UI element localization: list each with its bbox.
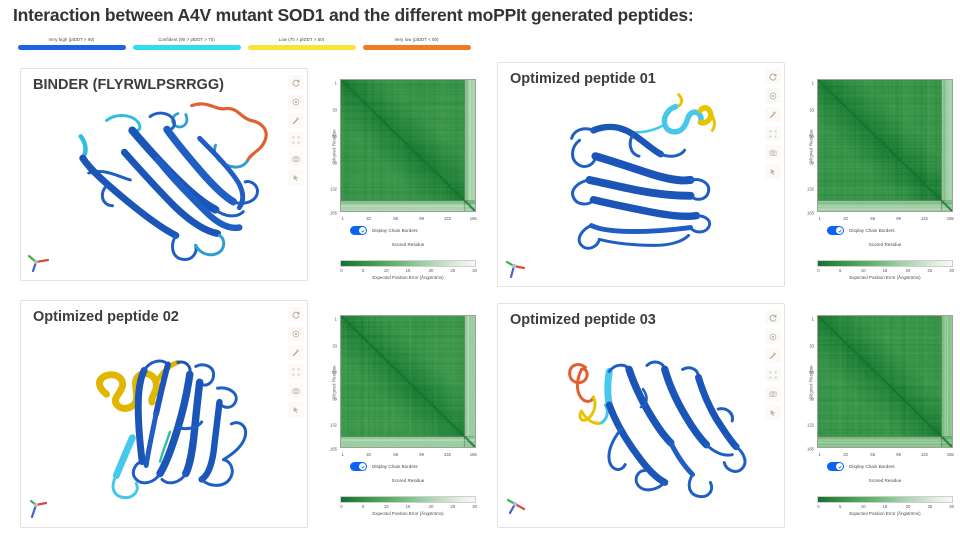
colorbar-tick: 20 [906,504,911,509]
pae-x-axis-label: Scored Residue [817,478,953,483]
colorbar-tick: 30 [949,268,954,273]
settings-wrench-icon[interactable] [765,107,781,122]
pae-y-tick: 33 [809,343,814,348]
center-target-icon[interactable] [288,94,304,109]
colorbar-tick: 30 [472,268,477,273]
legend-item-very-high: Very high (plDDT > 90) [14,36,129,56]
pae-x-tick: 132 [921,216,928,221]
colorbar-tick: 15 [406,268,411,273]
colorbar-tick: 10 [861,504,866,509]
colorbar-gradient [817,496,953,503]
legend-bar-low [248,45,356,50]
pae-y-tick: 66 [809,370,814,375]
pae-y-tick: 165 [330,447,337,452]
pae-y-tick: 165 [330,211,337,216]
panel-opt01: Optimized peptide 01 Aligned Residue 1 3… [497,62,960,287]
colorbar-tick: 20 [906,268,911,273]
chain-borders-toggle-row[interactable]: Display Chain Borders [350,226,418,235]
center-target-icon[interactable] [765,329,781,344]
molecule-canvas[interactable] [498,304,784,527]
pae-heatmap[interactable] [340,79,476,212]
pae-y-tick: 1 [812,81,814,86]
pae-y-tick: 99 [809,396,814,401]
colorbar-ticks: 0 5 10 15 20 25 30 [817,504,953,511]
orientation-axes-icon [27,248,53,274]
pae-x-tick: 33 [366,216,371,221]
viewer-title: Optimized peptide 02 [33,309,179,325]
orientation-axes-icon [504,254,530,280]
legend-item-very-low: Very low (plDDT < 50) [359,36,474,56]
pae-y-ticks: 1 33 66 99 132 165 [324,312,338,452]
pae-y-ticks: 1 33 66 99 132 165 [801,76,815,216]
molecule-ribbon-opt01 [498,63,784,286]
pae-y-tick: 99 [332,160,337,165]
reset-view-icon[interactable] [765,310,781,325]
pae-x-tick: 132 [921,452,928,457]
select-cursor-icon[interactable] [288,402,304,417]
pae-block-opt03: Aligned Residue 1 33 66 99 132 165 1 33 … [795,303,960,528]
structure-viewer-opt01[interactable]: Optimized peptide 01 [497,62,785,287]
molecule-canvas[interactable] [21,69,307,280]
pae-x-tick: 66 [393,216,398,221]
pae-x-ticks: 1 33 66 99 132 165 [340,216,476,224]
colorbar-gradient [817,260,953,267]
pae-x-tick: 132 [444,452,451,457]
colorbar-tick: 0 [340,268,342,273]
colorbar-tick: 5 [362,504,364,509]
colorbar-caption: Expected Position Error (Ångströms) [817,275,953,280]
reset-view-icon[interactable] [288,75,304,90]
colorbar-gradient [340,260,476,267]
legend-bar-very-high [18,45,126,50]
panel-opt03: Optimized peptide 03 Aligned Residue 1 3… [497,303,960,528]
molecule-ribbon-opt02 [21,301,307,527]
screenshot-icon[interactable] [288,383,304,398]
select-cursor-icon[interactable] [765,164,781,179]
viewer-toolbar[interactable] [765,69,781,179]
colorbar-tick: 25 [451,268,456,273]
toggle-knob [836,227,843,234]
pae-colorbar: 0 5 10 15 20 25 30 Expected Position Err… [340,496,476,511]
colorbar-tick: 0 [817,504,819,509]
display-chain-borders-toggle[interactable] [350,462,367,471]
chain-borders-label: Display Chain Borders [372,464,418,469]
pae-y-tick: 165 [807,211,814,216]
structure-viewer-opt03[interactable]: Optimized peptide 03 [497,303,785,528]
pae-block-opt02: Aligned Residue 1 33 66 99 132 165 1 33 … [318,300,488,528]
pae-y-tick: 66 [332,134,337,139]
colorbar-tick: 10 [384,268,389,273]
colorbar-caption: Expected Position Error (Ångströms) [340,511,476,516]
pae-x-tick: 33 [843,216,848,221]
panel-binder: BINDER (FLYRWLPSRRGG) Aligned Residue 1 … [20,68,488,281]
pae-x-tick: 66 [870,452,875,457]
pae-x-tick: 165 [947,452,954,457]
colorbar-tick: 15 [406,504,411,509]
colorbar-tick: 10 [384,504,389,509]
pae-block-opt01: Aligned Residue 1 33 66 99 132 165 1 33 … [795,62,960,287]
pae-plot[interactable]: Aligned Residue 1 33 66 99 132 165 1 33 … [318,312,484,452]
colorbar-tick: 5 [362,268,364,273]
pae-y-tick: 99 [332,396,337,401]
pae-x-axis-label: Scored Residue [817,242,953,247]
pae-y-tick: 99 [809,160,814,165]
pae-y-tick: 33 [332,107,337,112]
pae-x-tick: 165 [470,452,477,457]
pae-y-tick: 132 [807,423,814,428]
structure-viewer-opt02[interactable]: Optimized peptide 02 [20,300,308,528]
chain-borders-toggle-row[interactable]: Display Chain Borders [827,462,895,471]
settings-wrench-icon[interactable] [288,113,304,128]
pae-plot[interactable]: Aligned Residue 1 33 66 99 132 165 1 33 … [795,312,960,452]
fullscreen-icon[interactable] [288,364,304,379]
colorbar-tick: 15 [883,268,888,273]
pae-x-tick: 99 [419,452,424,457]
colorbar-ticks: 0 5 10 15 20 25 30 [340,268,476,275]
viewer-toolbar[interactable] [288,307,304,417]
pae-x-tick: 1 [819,216,821,221]
pae-plot[interactable]: Aligned Residue 1 33 66 99 132 165 1 33 … [795,76,960,216]
pae-y-tick: 132 [330,423,337,428]
pae-heatmap[interactable] [817,315,953,448]
pae-x-axis-label: Scored Residue [340,478,476,483]
chain-borders-label: Display Chain Borders [849,228,895,233]
toggle-knob [359,227,366,234]
viewer-title: Optimized peptide 01 [510,71,656,87]
fullscreen-icon[interactable] [288,132,304,147]
colorbar-tick: 10 [861,268,866,273]
pae-x-tick: 132 [444,216,451,221]
colorbar-caption: Expected Position Error (Ångströms) [340,275,476,280]
reset-view-icon[interactable] [288,307,304,322]
colorbar-ticks: 0 5 10 15 20 25 30 [340,504,476,511]
pae-y-tick: 1 [335,81,337,86]
reset-view-icon[interactable] [765,69,781,84]
chain-borders-toggle-row[interactable]: Display Chain Borders [350,462,418,471]
legend-label: Very high (plDDT > 90) [49,36,95,43]
settings-wrench-icon[interactable] [288,345,304,360]
molecule-canvas[interactable] [21,301,307,527]
pae-x-ticks: 1 33 66 99 132 165 [340,452,476,460]
orientation-axes-icon [504,495,530,521]
pae-y-tick: 66 [809,134,814,139]
panel-opt02: Optimized peptide 02 Aligned Residue 1 3… [20,300,488,528]
chain-borders-label: Display Chain Borders [372,228,418,233]
screenshot-icon[interactable] [765,386,781,401]
colorbar-tick: 25 [928,268,933,273]
molecule-ribbon-binder [21,69,307,280]
toggle-knob [836,463,843,470]
pae-x-tick: 99 [896,452,901,457]
select-cursor-icon[interactable] [765,405,781,420]
page-title: Interaction between A4V mutant SOD1 and … [13,5,694,26]
colorbar-tick: 30 [949,504,954,509]
legend-item-low: Low (70 > plDDT > 50) [244,36,359,56]
pae-x-ticks: 1 33 66 99 132 165 [817,216,953,224]
pae-x-tick: 99 [896,216,901,221]
fullscreen-icon[interactable] [765,126,781,141]
pae-y-ticks: 1 33 66 99 132 165 [801,312,815,452]
display-chain-borders-toggle[interactable] [827,462,844,471]
colorbar-tick: 20 [429,268,434,273]
colorbar-tick: 25 [451,504,456,509]
pae-x-axis-label: Scored Residue [340,242,476,247]
colorbar-ticks: 0 5 10 15 20 25 30 [817,268,953,275]
legend-label: Confident (90 > plDDT > 70) [158,36,215,43]
pae-y-tick: 33 [809,107,814,112]
pae-block-binder: Aligned Residue 1 33 66 99 132 165 1 33 … [318,68,488,281]
pae-x-tick: 99 [419,216,424,221]
pae-y-tick: 132 [807,187,814,192]
pae-x-tick: 66 [393,452,398,457]
pae-y-tick: 165 [807,447,814,452]
pae-plot[interactable]: Aligned Residue 1 33 66 99 132 165 1 33 … [318,76,484,216]
molecule-ribbon-opt03 [498,304,784,527]
pae-x-tick: 66 [870,216,875,221]
pae-x-ticks: 1 33 66 99 132 165 [817,452,953,460]
toggle-knob [359,463,366,470]
viewer-toolbar[interactable] [288,75,304,185]
pae-heatmap[interactable] [817,79,953,212]
colorbar-tick: 5 [839,504,841,509]
viewer-toolbar[interactable] [765,310,781,420]
colorbar-caption: Expected Position Error (Ångströms) [817,511,953,516]
pae-y-tick: 132 [330,187,337,192]
colorbar-tick: 0 [817,268,819,273]
pae-y-tick: 1 [812,317,814,322]
pae-y-tick: 66 [332,370,337,375]
pae-colorbar: 0 5 10 15 20 25 30 Expected Position Err… [817,260,953,275]
pae-x-tick: 1 [342,216,344,221]
orientation-axes-icon [27,495,53,521]
pae-y-ticks: 1 33 66 99 132 165 [324,76,338,216]
center-target-icon[interactable] [288,326,304,341]
viewer-title: BINDER (FLYRWLPSRRGG) [33,77,224,93]
structure-viewer-binder[interactable]: BINDER (FLYRWLPSRRGG) [20,68,308,281]
pae-x-tick: 165 [947,216,954,221]
colorbar-tick: 20 [429,504,434,509]
legend-bar-confident [133,45,241,50]
pae-x-tick: 1 [819,452,821,457]
legend-label: Very low (plDDT < 50) [394,36,438,43]
pae-x-tick: 1 [342,452,344,457]
settings-wrench-icon[interactable] [765,348,781,363]
pae-heatmap[interactable] [340,315,476,448]
chain-borders-toggle-row[interactable]: Display Chain Borders [827,226,895,235]
legend-label: Low (70 > plDDT > 50) [279,36,325,43]
pae-x-tick: 33 [843,452,848,457]
screenshot-icon[interactable] [765,145,781,160]
legend-item-confident: Confident (90 > plDDT > 70) [129,36,244,56]
plddt-legend: Very high (plDDT > 90) Confident (90 > p… [14,36,474,56]
pae-y-tick: 33 [332,343,337,348]
pae-colorbar: 0 5 10 15 20 25 30 Expected Position Err… [817,496,953,511]
legend-bar-very-low [363,45,471,50]
select-cursor-icon[interactable] [288,170,304,185]
molecule-canvas[interactable] [498,63,784,286]
pae-y-tick: 1 [335,317,337,322]
screenshot-icon[interactable] [288,151,304,166]
colorbar-tick: 30 [472,504,477,509]
colorbar-tick: 25 [928,504,933,509]
colorbar-tick: 0 [340,504,342,509]
pae-x-tick: 33 [366,452,371,457]
pae-colorbar: 0 5 10 15 20 25 30 Expected Position Err… [340,260,476,275]
chain-borders-label: Display Chain Borders [849,464,895,469]
pae-x-tick: 165 [470,216,477,221]
colorbar-tick: 15 [883,504,888,509]
colorbar-tick: 5 [839,268,841,273]
display-chain-borders-toggle[interactable] [350,226,367,235]
viewer-title: Optimized peptide 03 [510,312,656,328]
fullscreen-icon[interactable] [765,367,781,382]
display-chain-borders-toggle[interactable] [827,226,844,235]
center-target-icon[interactable] [765,88,781,103]
colorbar-gradient [340,496,476,503]
